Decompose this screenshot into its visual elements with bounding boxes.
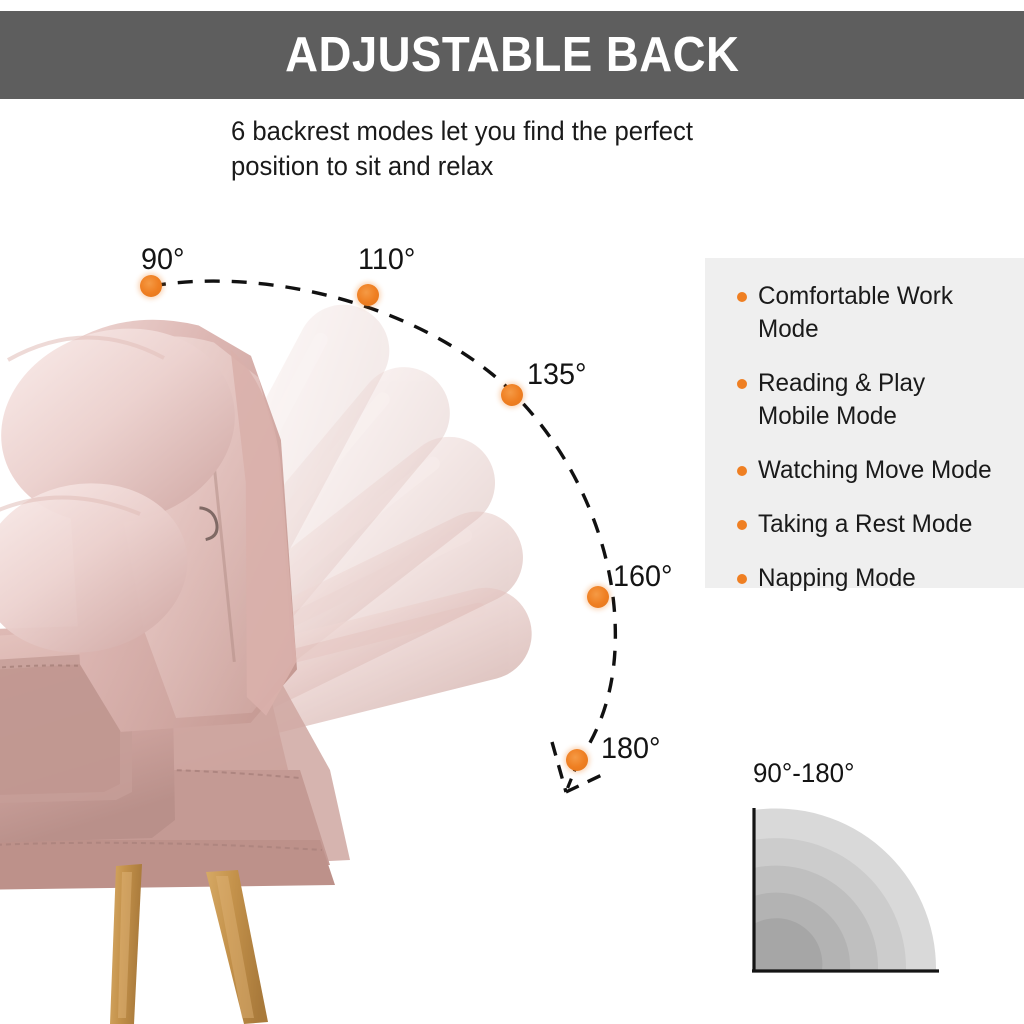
angle-range-label: 90°-180° bbox=[753, 758, 854, 789]
bullet-icon bbox=[737, 292, 747, 302]
mode-label-line-1: Taking a Rest Mode bbox=[758, 510, 972, 538]
mode-label-line-2: Mobile Mode bbox=[758, 400, 925, 433]
bullet-icon bbox=[737, 379, 747, 389]
infographic-canvas: ADJUSTABLE BACK 6 backrest modes let you… bbox=[0, 0, 1024, 1024]
product-photo bbox=[0, 300, 620, 1024]
angle-label-110: 110° bbox=[358, 243, 415, 277]
mode-label: Napping Mode bbox=[758, 562, 916, 595]
modes-list-panel: Comfortable Work Mode Reading & Play Mob… bbox=[705, 258, 1024, 588]
page-title: ADJUSTABLE BACK bbox=[285, 27, 739, 83]
mode-label-line-1: Napping Mode bbox=[758, 564, 916, 592]
bullet-icon bbox=[737, 520, 747, 530]
mode-label-line-1: Watching Move Mode bbox=[758, 456, 992, 484]
list-item[interactable]: Napping Mode bbox=[737, 562, 1018, 595]
list-item[interactable]: Comfortable Work Mode bbox=[737, 280, 1018, 346]
list-item[interactable]: Taking a Rest Mode bbox=[737, 508, 1018, 541]
angle-label-90: 90° bbox=[141, 243, 185, 277]
modes-list: Comfortable Work Mode Reading & Play Mob… bbox=[737, 280, 1018, 616]
angle-range-diagram: 90°-180° bbox=[741, 758, 971, 983]
subtitle-text: 6 backrest modes let you find the perfec… bbox=[231, 114, 801, 184]
bullet-icon bbox=[737, 574, 747, 584]
quarter-arc-graphic bbox=[741, 758, 971, 983]
mode-label: Reading & Play Mobile Mode bbox=[758, 367, 925, 433]
mode-label: Comfortable Work Mode bbox=[758, 280, 1010, 346]
mode-label-line-1: Reading & Play bbox=[758, 369, 925, 397]
chair-legs bbox=[110, 864, 268, 1024]
subtitle-line-2: position to sit and relax bbox=[231, 149, 801, 184]
list-item[interactable]: Reading & Play Mobile Mode bbox=[737, 367, 1018, 433]
mode-label: Watching Move Mode bbox=[758, 454, 992, 487]
subtitle-line-1: 6 backrest modes let you find the perfec… bbox=[231, 114, 801, 149]
header-banner: ADJUSTABLE BACK bbox=[0, 11, 1024, 99]
angle-dot-90 bbox=[140, 275, 162, 297]
angle-label-160: 160° bbox=[613, 560, 673, 594]
list-item[interactable]: Watching Move Mode bbox=[737, 454, 1018, 487]
bullet-icon bbox=[737, 466, 747, 476]
mode-label-line-1: Comfortable Work Mode bbox=[758, 282, 953, 343]
mode-label: Taking a Rest Mode bbox=[758, 508, 972, 541]
